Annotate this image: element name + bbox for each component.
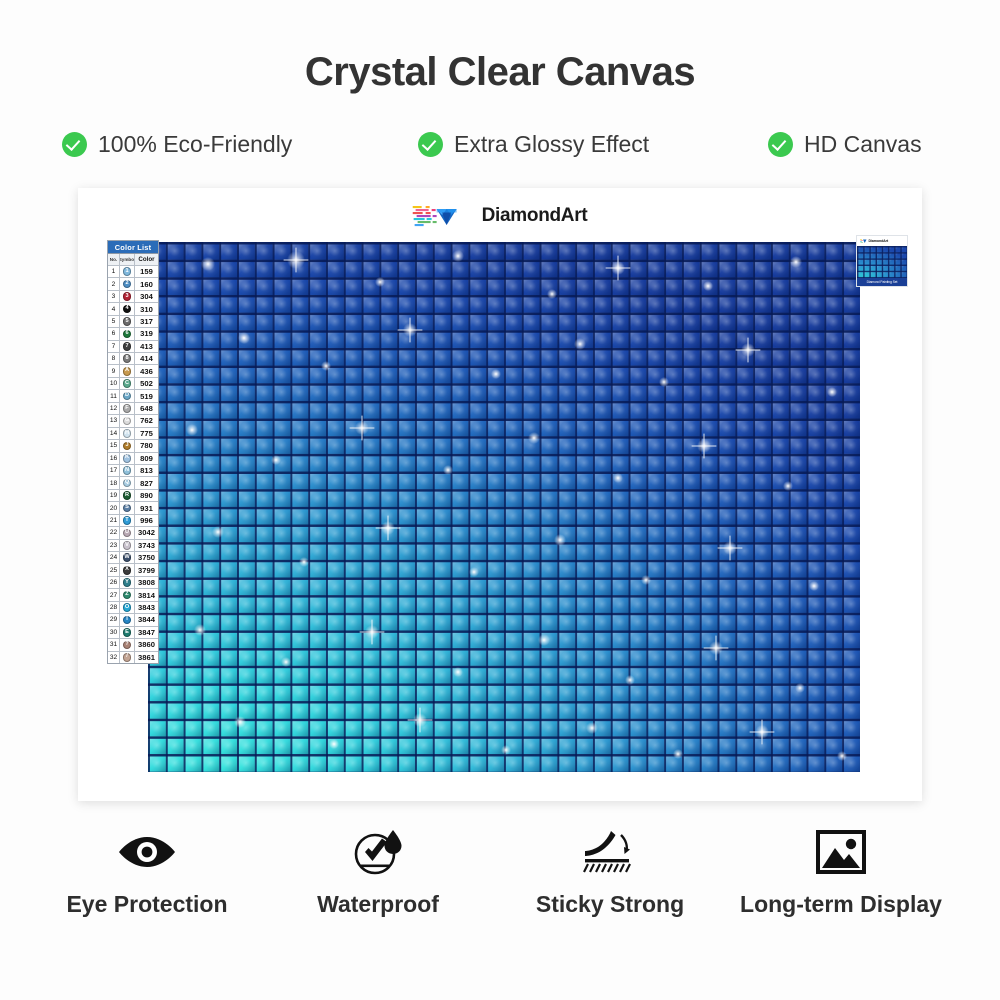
feature-long-term-display: Long-term Display: [716, 826, 966, 918]
color-row-code: 413: [135, 341, 158, 352]
color-list-row: 24W3750: [108, 552, 158, 564]
color-row-no: 3: [108, 291, 120, 302]
symbol-swatch-icon: R: [123, 491, 132, 500]
color-list-row: 14H775: [108, 428, 158, 440]
column-header-no: No.: [108, 254, 120, 265]
check-circle-icon: [62, 132, 87, 157]
bullet-glossy-effect: Extra Glossy Effect: [418, 131, 649, 158]
diamond-logo-icon: [413, 203, 475, 229]
color-list-row: 44310: [108, 303, 158, 315]
color-row-no: 24: [108, 552, 120, 563]
color-row-symbol: N: [120, 465, 135, 476]
color-list-row: 20S931: [108, 502, 158, 514]
color-row-no: 27: [108, 589, 120, 600]
color-row-no: 26: [108, 577, 120, 588]
color-row-no: 20: [108, 502, 120, 513]
image-icon: [816, 826, 866, 878]
color-row-symbol: Q: [120, 477, 135, 488]
color-row-no: 1: [108, 266, 120, 277]
check-circle-icon: [768, 132, 793, 157]
color-row-no: 7: [108, 341, 120, 352]
color-row-code: 436: [135, 365, 158, 376]
symbol-swatch-icon: 8: [123, 354, 132, 363]
color-row-code: 931: [135, 502, 158, 513]
color-row-symbol: O: [120, 602, 135, 613]
color-row-symbol: W: [120, 552, 135, 563]
color-row-symbol: H: [120, 428, 135, 439]
color-row-code: 775: [135, 428, 158, 439]
symbol-swatch-icon: 4: [123, 305, 132, 314]
color-row-no: 5: [108, 316, 120, 327]
watermark-header: DiamondArt: [857, 236, 907, 246]
symbol-swatch-icon: V: [123, 541, 132, 550]
color-row-symbol: G: [120, 415, 135, 426]
color-row-symbol: /: [120, 652, 135, 663]
color-row-code: 996: [135, 515, 158, 526]
symbol-swatch-icon: U: [123, 529, 132, 538]
color-row-code: 648: [135, 403, 158, 414]
symbol-swatch-icon: /: [123, 653, 132, 662]
color-row-symbol: 1: [120, 266, 135, 277]
symbol-swatch-icon: X: [123, 566, 132, 575]
water-drop-icon: [349, 826, 407, 878]
color-row-symbol: I: [120, 614, 135, 625]
color-list-row: 9A436: [108, 365, 158, 377]
color-row-code: 3799: [135, 564, 158, 575]
color-row-no: 12: [108, 403, 120, 414]
color-list-row: 33304: [108, 291, 158, 303]
color-row-symbol: U: [120, 527, 135, 538]
color-row-symbol: X: [120, 564, 135, 575]
symbol-swatch-icon: D: [123, 392, 132, 401]
color-list-row: 29I3844: [108, 614, 158, 626]
color-row-no: 15: [108, 440, 120, 451]
color-row-code: 780: [135, 440, 158, 451]
color-row-no: 28: [108, 602, 120, 613]
check-circle-icon: [418, 132, 443, 157]
color-row-symbol: 7: [120, 341, 135, 352]
column-header-color: Color: [135, 254, 158, 265]
color-row-symbol: C: [120, 378, 135, 389]
symbol-swatch-icon: Z: [123, 591, 132, 600]
symbol-swatch-icon: S: [123, 504, 132, 513]
watermark-mosaic: [857, 246, 907, 278]
color-list-row: 21T996: [108, 515, 158, 527]
color-row-symbol: F: [120, 403, 135, 414]
color-list-row: 77413: [108, 341, 158, 353]
color-list-row: 12F648: [108, 403, 158, 415]
color-list-row: 16K809: [108, 453, 158, 465]
color-list-row: 11D519: [108, 390, 158, 402]
color-row-no: 6: [108, 328, 120, 339]
color-list-row: 26Y3808: [108, 577, 158, 589]
color-row-no: 19: [108, 490, 120, 501]
color-row-code: 319: [135, 328, 158, 339]
color-row-code: 3843: [135, 602, 158, 613]
color-row-code: 317: [135, 316, 158, 327]
eye-icon: [116, 826, 178, 878]
bullet-hd-canvas: HD Canvas: [768, 131, 922, 158]
symbol-swatch-icon: T: [123, 516, 132, 525]
color-list-table: Color List No. Symbol Color 111592216033…: [107, 240, 159, 664]
color-row-symbol: S: [120, 502, 135, 513]
color-row-symbol: T: [120, 515, 135, 526]
color-list-row: 66319: [108, 328, 158, 340]
diamond-mosaic-artwork: [148, 242, 860, 772]
color-row-code: 304: [135, 291, 158, 302]
color-row-symbol: J: [120, 440, 135, 451]
color-row-no: 22: [108, 527, 120, 538]
color-row-code: 310: [135, 303, 158, 314]
color-row-code: 159: [135, 266, 158, 277]
symbol-swatch-icon: 2: [123, 280, 132, 289]
color-row-symbol: 2: [120, 278, 135, 289]
color-row-code: 809: [135, 453, 158, 464]
color-list-row: 19R890: [108, 490, 158, 502]
watermark-brand: DiamondArt: [869, 239, 889, 243]
bullet-label: Extra Glossy Effect: [454, 131, 649, 158]
color-list-row: 11159: [108, 266, 158, 278]
color-row-code: 762: [135, 415, 158, 426]
color-row-code: 3042: [135, 527, 158, 538]
color-list-header-row: No. Symbol Color: [108, 254, 158, 266]
color-row-code: 3814: [135, 589, 158, 600]
symbol-swatch-icon: O: [123, 603, 132, 612]
color-list-row: 32/3861: [108, 652, 158, 663]
color-row-symbol: Z: [120, 589, 135, 600]
symbol-swatch-icon: Q: [123, 479, 132, 488]
brand-logo-text: DiamondArt: [482, 205, 588, 227]
color-row-code: 813: [135, 465, 158, 476]
color-row-no: 17: [108, 465, 120, 476]
feature-eye-protection: Eye Protection: [22, 826, 272, 918]
bullet-label: HD Canvas: [804, 131, 922, 158]
symbol-swatch-icon: J: [123, 442, 132, 451]
color-row-no: 31: [108, 639, 120, 650]
feature-label: Long-term Display: [740, 891, 942, 918]
color-row-symbol: 3: [120, 291, 135, 302]
symbol-swatch-icon: I: [123, 616, 132, 625]
color-row-code: 3743: [135, 540, 158, 551]
color-row-no: 14: [108, 428, 120, 439]
color-row-code: 414: [135, 353, 158, 364]
color-list-row: 28O3843: [108, 602, 158, 614]
watermark-thumbnail: DiamondArt Diamond Painting Set: [856, 235, 908, 287]
page-title: Crystal Clear Canvas: [0, 50, 1000, 95]
color-list-body: 1115922160333044431055317663197741388414…: [108, 266, 158, 663]
feature-label: Sticky Strong: [536, 891, 684, 918]
color-row-symbol: ?: [120, 639, 135, 650]
symbol-swatch-icon: Y: [123, 578, 132, 587]
color-row-symbol: 6: [120, 328, 135, 339]
color-row-no: 29: [108, 614, 120, 625]
color-row-no: 8: [108, 353, 120, 364]
color-row-symbol: V: [120, 540, 135, 551]
brand-logo: DiamondArt: [413, 201, 588, 231]
color-row-symbol: D: [120, 390, 135, 401]
symbol-swatch-icon: 1: [123, 267, 132, 276]
symbol-swatch-icon: H: [123, 429, 132, 438]
bullet-label: 100% Eco-Friendly: [98, 131, 292, 158]
color-row-no: 4: [108, 303, 120, 314]
symbol-swatch-icon: E: [123, 628, 132, 637]
symbol-swatch-icon: N: [123, 466, 132, 475]
color-row-no: 25: [108, 564, 120, 575]
color-row-symbol: E: [120, 627, 135, 638]
color-row-symbol: 8: [120, 353, 135, 364]
color-row-symbol: 5: [120, 316, 135, 327]
watermark-caption: Diamond Painting Set: [857, 278, 907, 286]
color-list-row: 15J780: [108, 440, 158, 452]
symbol-swatch-icon: F: [123, 404, 132, 413]
color-list-row: 55317: [108, 316, 158, 328]
color-row-no: 16: [108, 453, 120, 464]
color-list-row: 30E3847: [108, 627, 158, 639]
symbol-swatch-icon: G: [123, 417, 132, 426]
color-row-symbol: Y: [120, 577, 135, 588]
feature-label: Eye Protection: [66, 891, 227, 918]
color-row-code: 3750: [135, 552, 158, 563]
color-row-no: 13: [108, 415, 120, 426]
symbol-swatch-icon: ?: [123, 641, 132, 650]
color-row-code: 890: [135, 490, 158, 501]
color-row-no: 2: [108, 278, 120, 289]
color-list-row: 23V3743: [108, 540, 158, 552]
color-row-code: 3860: [135, 639, 158, 650]
feature-sticky-strong: Sticky Strong: [485, 826, 735, 918]
color-list-row: 13G762: [108, 415, 158, 427]
product-canvas-card: DiamondArt: [78, 188, 922, 801]
color-row-code: 3861: [135, 652, 158, 663]
color-row-code: 3847: [135, 627, 158, 638]
symbol-swatch-icon: 5: [123, 317, 132, 326]
feature-bullets: 100% Eco-Friendly Extra Glossy Effect HD…: [0, 131, 1000, 169]
diamond-logo-icon: [860, 239, 867, 244]
symbol-swatch-icon: W: [123, 553, 132, 562]
color-list-row: 27Z3814: [108, 589, 158, 601]
color-row-no: 23: [108, 540, 120, 551]
color-list-row: 22U3042: [108, 527, 158, 539]
color-row-code: 160: [135, 278, 158, 289]
symbol-swatch-icon: 6: [123, 330, 132, 339]
color-row-code: 519: [135, 390, 158, 401]
feature-waterproof: Waterproof: [253, 826, 503, 918]
color-row-code: 3844: [135, 614, 158, 625]
color-row-no: 21: [108, 515, 120, 526]
symbol-swatch-icon: 3: [123, 292, 132, 301]
mosaic-grid-lines: [148, 242, 860, 772]
feature-label: Waterproof: [317, 891, 439, 918]
color-row-no: 10: [108, 378, 120, 389]
symbol-swatch-icon: 7: [123, 342, 132, 351]
symbol-swatch-icon: K: [123, 454, 132, 463]
color-list-row: 10C502: [108, 378, 158, 390]
color-row-symbol: K: [120, 453, 135, 464]
symbol-swatch-icon: A: [123, 367, 132, 376]
color-list-row: 18Q827: [108, 477, 158, 489]
color-row-code: 502: [135, 378, 158, 389]
color-row-no: 9: [108, 365, 120, 376]
color-row-symbol: 4: [120, 303, 135, 314]
color-list-row: 22160: [108, 278, 158, 290]
color-list-title: Color List: [108, 241, 158, 254]
feature-row: Eye Protection Waterproof: [0, 826, 1000, 936]
adhesive-icon: [581, 826, 639, 878]
color-list-row: 25X3799: [108, 564, 158, 576]
color-row-no: 18: [108, 477, 120, 488]
column-header-symbol: Symbol: [120, 254, 135, 265]
color-row-no: 30: [108, 627, 120, 638]
color-row-no: 32: [108, 652, 120, 663]
color-row-code: 827: [135, 477, 158, 488]
bullet-eco-friendly: 100% Eco-Friendly: [62, 131, 292, 158]
color-row-symbol: A: [120, 365, 135, 376]
color-list-row: 31?3860: [108, 639, 158, 651]
symbol-swatch-icon: C: [123, 379, 132, 388]
color-row-symbol: R: [120, 490, 135, 501]
color-row-no: 11: [108, 390, 120, 401]
color-row-code: 3808: [135, 577, 158, 588]
color-list-row: 17N813: [108, 465, 158, 477]
color-list-row: 88414: [108, 353, 158, 365]
